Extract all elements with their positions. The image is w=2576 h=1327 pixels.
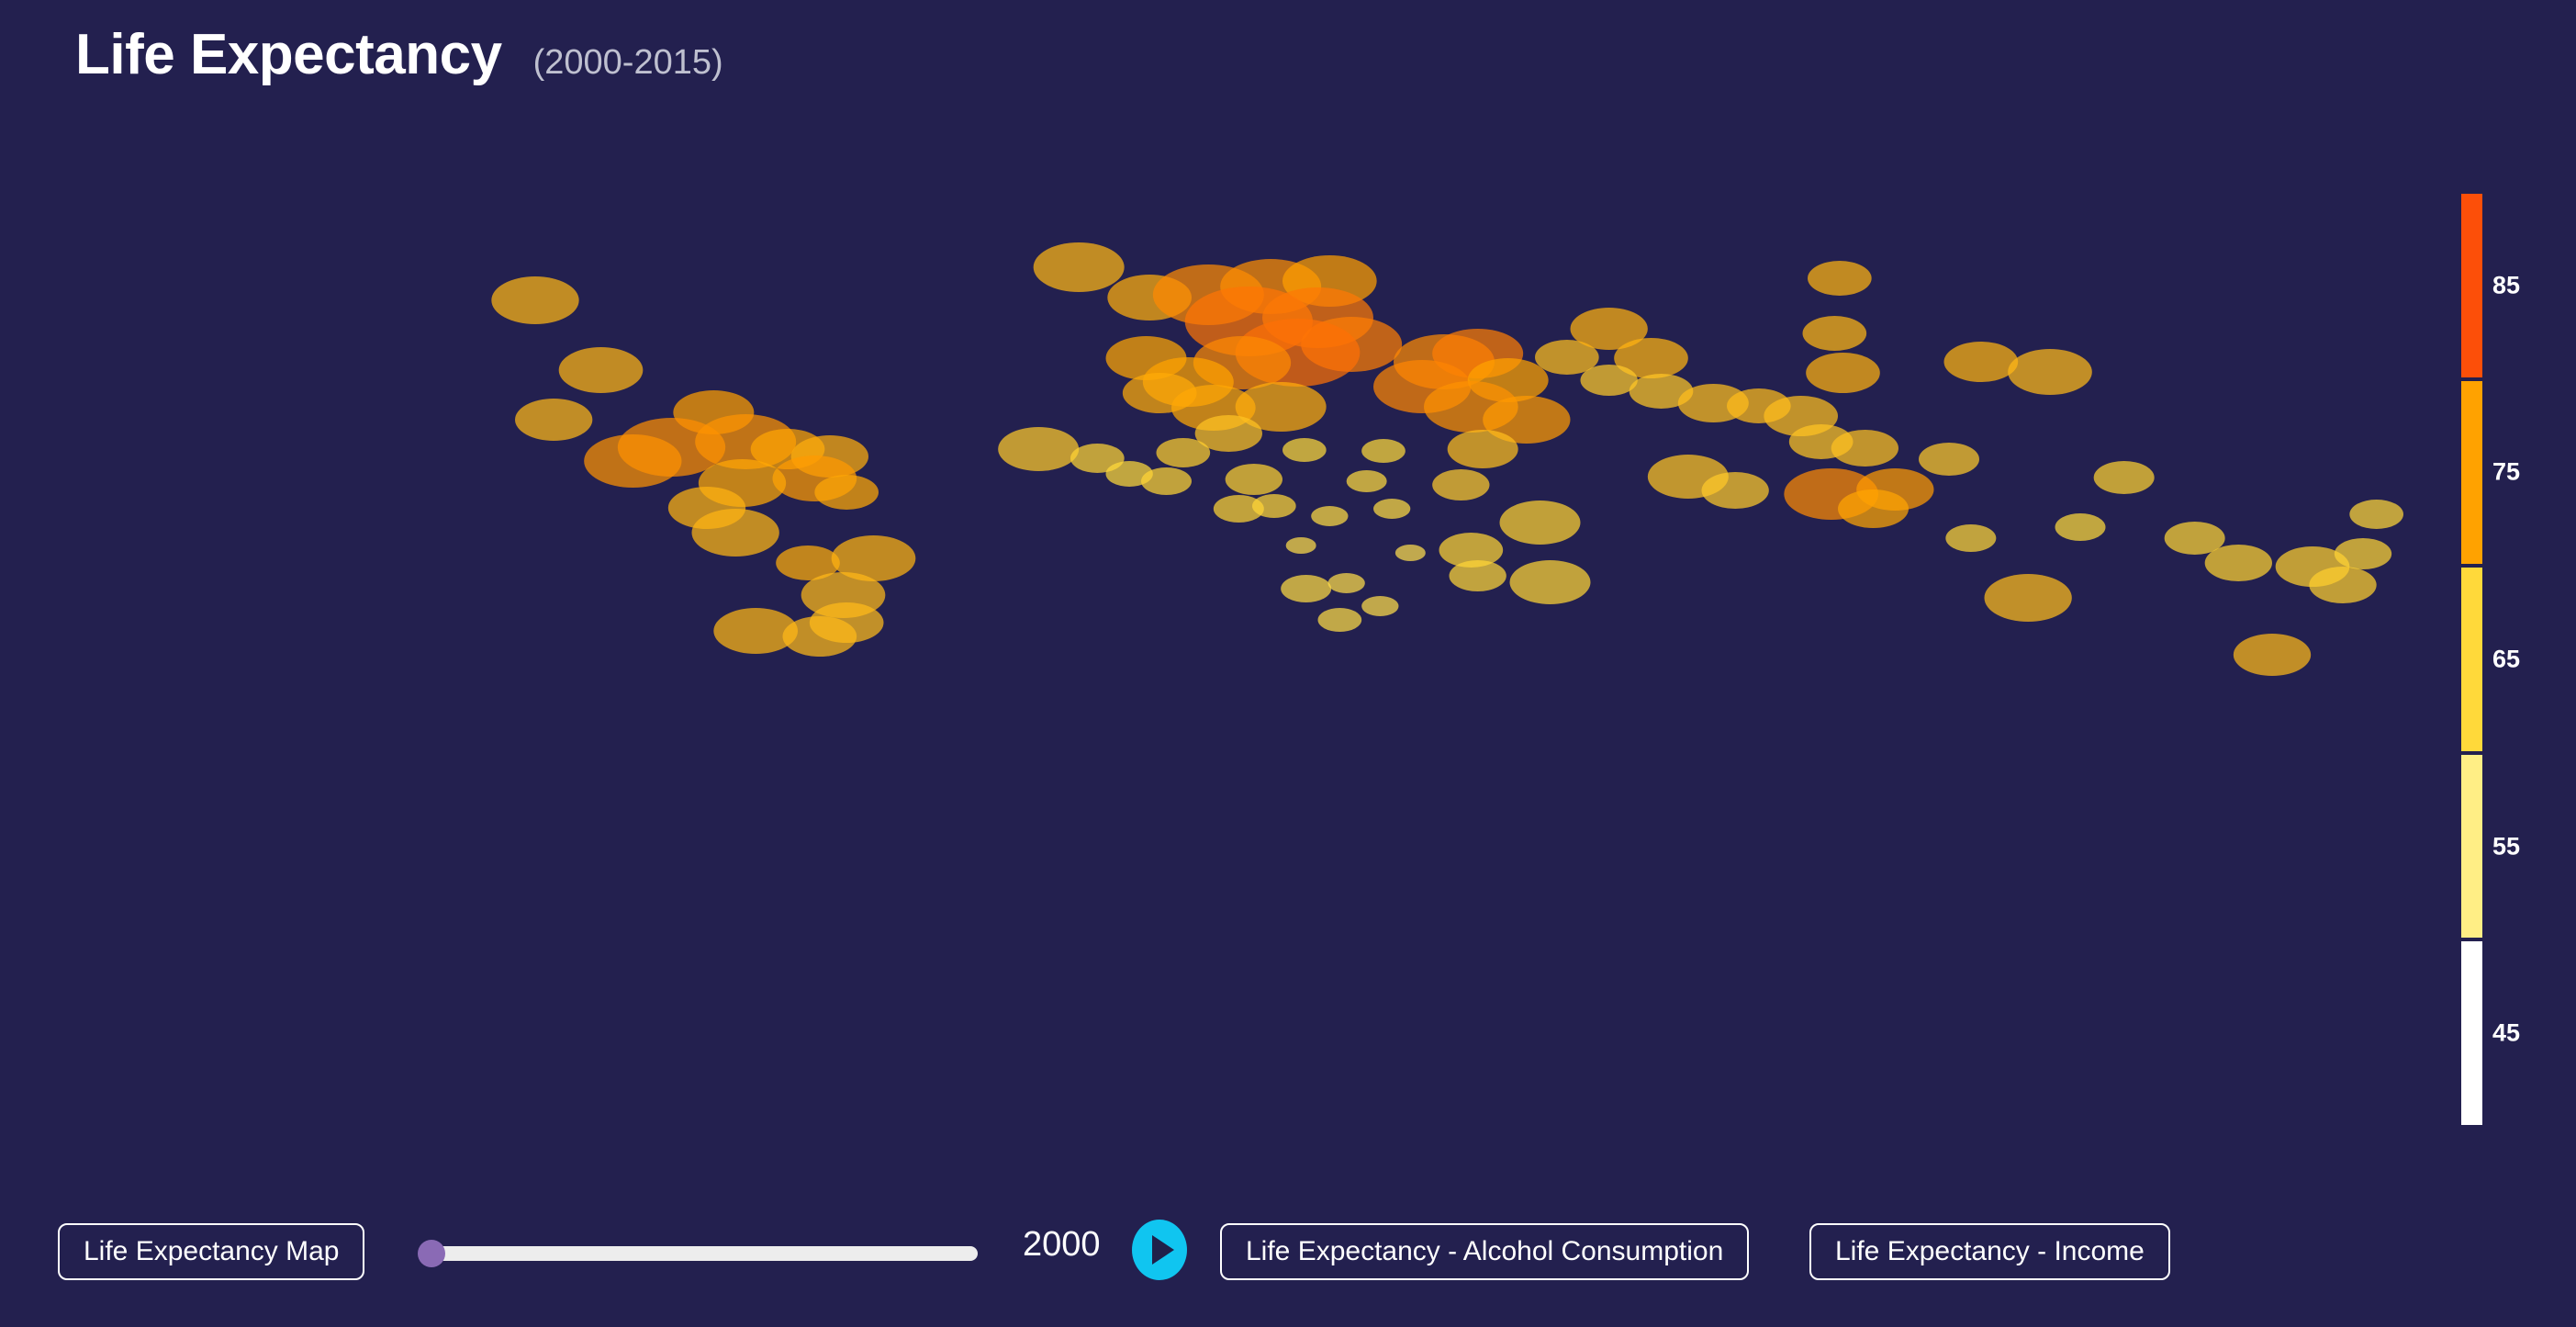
country-bubble[interactable]	[2055, 513, 2106, 541]
page-header: Life Expectancy (2000-2015)	[75, 22, 723, 87]
country-bubble[interactable]	[1806, 353, 1880, 393]
country-bubble[interactable]	[998, 427, 1079, 471]
colorbar-tick-75: 75	[2492, 458, 2520, 487]
page-subtitle: (2000-2015)	[533, 43, 723, 83]
bubble-layer	[0, 138, 2424, 1166]
country-bubble[interactable]	[1450, 560, 1506, 591]
colorbar-band-65	[2461, 568, 2482, 751]
country-bubble[interactable]	[1919, 443, 1979, 476]
life-expectancy-bubble-map[interactable]	[0, 138, 2424, 1166]
country-bubble[interactable]	[1281, 575, 1331, 602]
country-bubble[interactable]	[2205, 545, 2272, 581]
country-bubble[interactable]	[692, 509, 779, 557]
country-bubble[interactable]	[2349, 500, 2403, 529]
year-slider[interactable]	[418, 1236, 978, 1269]
country-bubble[interactable]	[1318, 608, 1362, 632]
country-bubble[interactable]	[1361, 439, 1406, 463]
country-bubble[interactable]	[1500, 500, 1581, 545]
page-title: Life Expectancy	[75, 22, 502, 87]
country-bubble[interactable]	[1311, 506, 1348, 526]
country-bubble[interactable]	[584, 434, 681, 488]
country-bubble[interactable]	[1432, 469, 1489, 500]
country-bubble[interactable]	[1141, 467, 1192, 495]
colorbar-band-75	[2461, 381, 2482, 565]
country-bubble[interactable]	[810, 602, 884, 643]
country-bubble[interactable]	[2234, 634, 2311, 676]
colorbar-tick-85: 85	[2492, 271, 2520, 299]
control-bar: Life Expectancy Map 2000 Life Expectancy…	[0, 1221, 2576, 1282]
country-bubble[interactable]	[1282, 438, 1327, 462]
country-bubble[interactable]	[491, 276, 578, 324]
country-bubble[interactable]	[1373, 499, 1410, 519]
colorbar-tick-45: 45	[2492, 1019, 2520, 1048]
country-bubble[interactable]	[1945, 524, 1996, 552]
country-bubble[interactable]	[1157, 438, 1211, 467]
country-bubble[interactable]	[1510, 560, 1591, 604]
country-bubble[interactable]	[1803, 316, 1867, 351]
life-expectancy-map-button[interactable]: Life Expectancy Map	[58, 1223, 364, 1280]
country-bubble[interactable]	[1347, 470, 1387, 492]
country-bubble[interactable]	[559, 347, 644, 393]
year-slider-handle[interactable]	[418, 1240, 445, 1267]
play-triangle	[1152, 1235, 1174, 1265]
country-bubble[interactable]	[2335, 538, 2391, 569]
colorbar-tick-55: 55	[2492, 832, 2520, 860]
country-bubble[interactable]	[2309, 567, 2376, 603]
colorbar-band-55	[2461, 755, 2482, 939]
life-expectancy-income-button[interactable]: Life Expectancy - Income	[1809, 1223, 2170, 1280]
year-slider-track[interactable]	[436, 1246, 978, 1261]
country-bubble[interactable]	[1226, 464, 1282, 495]
country-bubble[interactable]	[1286, 537, 1316, 554]
country-bubble[interactable]	[1985, 574, 2072, 622]
country-bubble[interactable]	[1361, 596, 1398, 616]
colorbar-tick-65: 65	[2492, 646, 2520, 674]
colorbar-band-85	[2461, 194, 2482, 377]
play-icon[interactable]	[1132, 1220, 1187, 1280]
country-bubble[interactable]	[1395, 545, 1426, 561]
country-bubble[interactable]	[1838, 489, 1909, 528]
country-bubble[interactable]	[1328, 573, 1365, 593]
current-year-label: 2000	[1023, 1225, 1101, 1265]
country-bubble[interactable]	[2094, 461, 2155, 494]
colorbar-band-45	[2461, 941, 2482, 1125]
life-expectancy-colorbar: 8575655545	[2461, 194, 2482, 1125]
country-bubble[interactable]	[1702, 472, 1769, 509]
country-bubble[interactable]	[1581, 365, 1638, 396]
country-bubble[interactable]	[1448, 430, 1518, 468]
country-bubble[interactable]	[1944, 342, 2019, 382]
country-bubble[interactable]	[2008, 349, 2092, 395]
country-bubble[interactable]	[814, 475, 879, 510]
life-expectancy-alcohol-button[interactable]: Life Expectancy - Alcohol Consumption	[1220, 1223, 1749, 1280]
country-bubble[interactable]	[1034, 242, 1125, 292]
country-bubble[interactable]	[1252, 494, 1296, 518]
country-bubble[interactable]	[1831, 430, 1898, 467]
country-bubble[interactable]	[1808, 261, 1872, 296]
country-bubble[interactable]	[515, 399, 592, 441]
